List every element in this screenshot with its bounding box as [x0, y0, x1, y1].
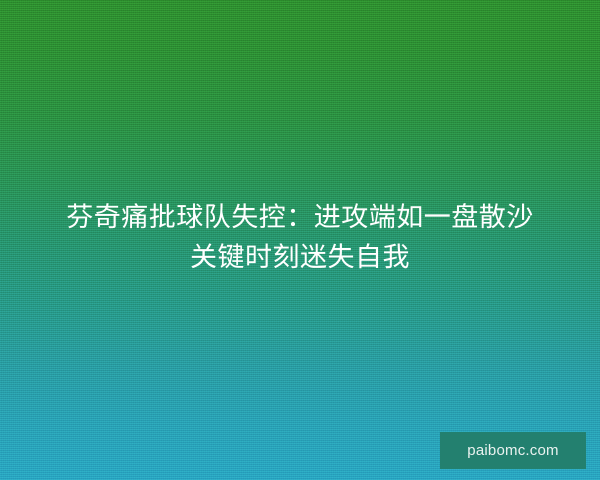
- watermark-label: paibomc.com: [467, 443, 558, 458]
- watermark-badge: paibomc.com: [440, 432, 586, 469]
- headline-text: 芬奇痛批球队失控：进攻端如一盘散沙 关键时刻迷失自我: [0, 198, 600, 278]
- article-banner: 芬奇痛批球队失控：进攻端如一盘散沙 关键时刻迷失自我 paibomc.com: [0, 0, 600, 480]
